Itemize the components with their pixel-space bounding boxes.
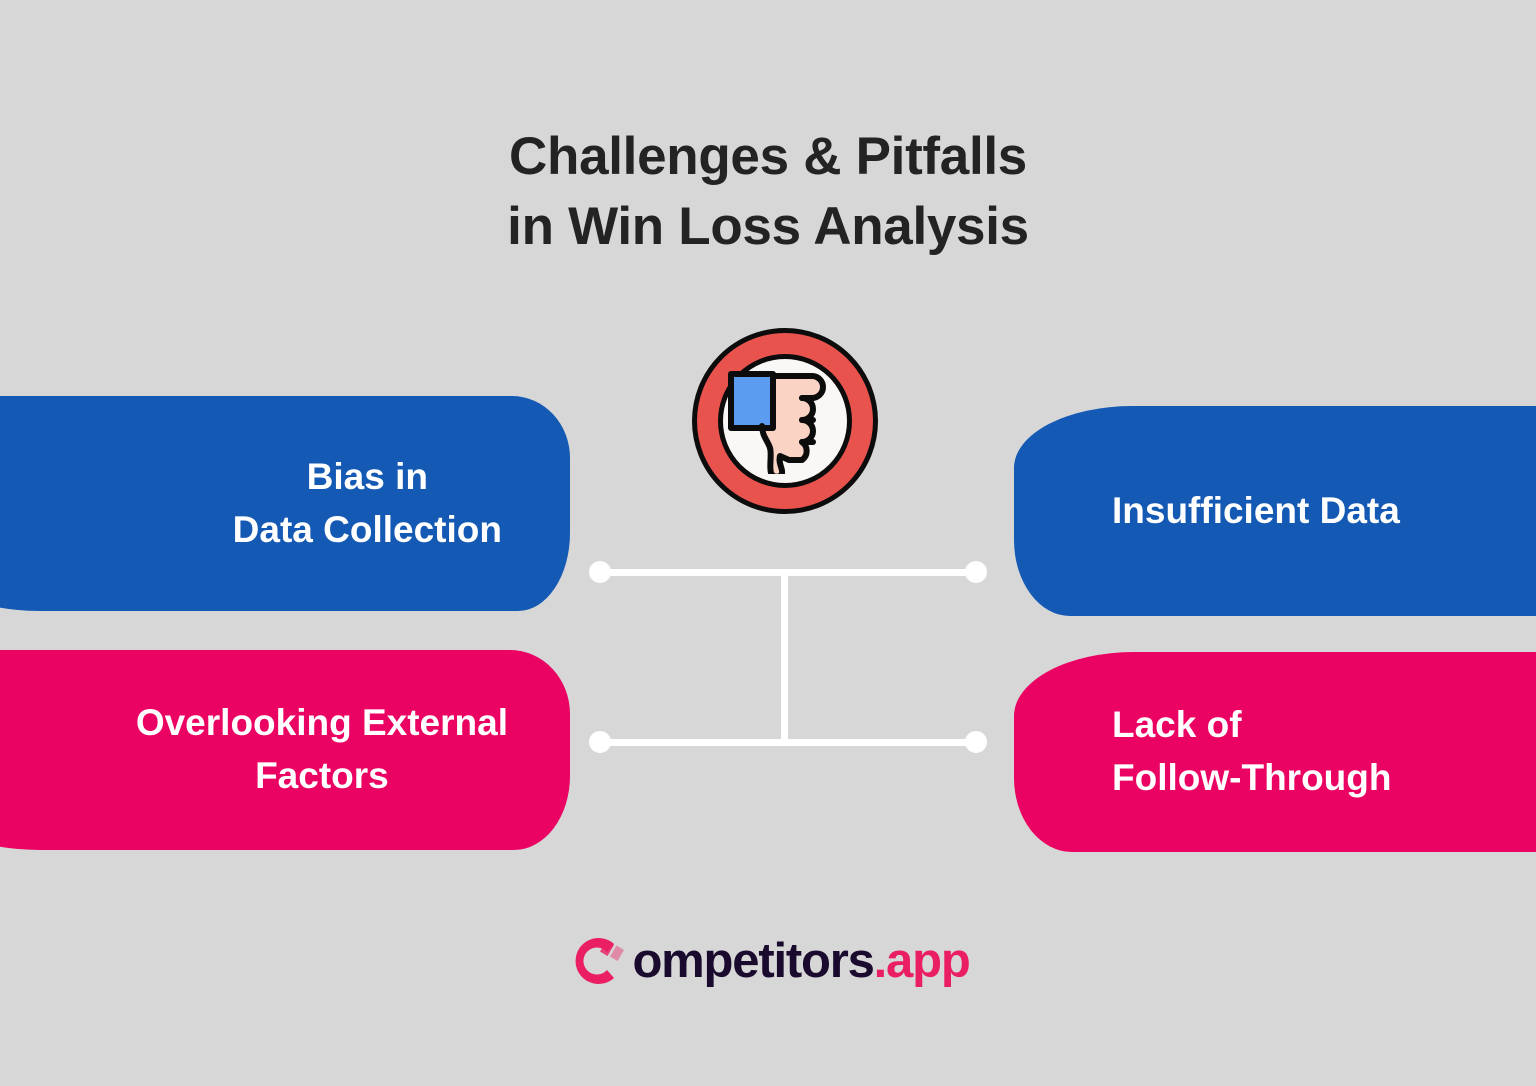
brand-wordmark: ompetitors.app	[632, 937, 969, 986]
connector-line-bottom	[600, 739, 986, 746]
competitors-c-mark-icon	[566, 930, 628, 992]
connector-line-top	[600, 569, 986, 576]
card-bias-in-data-collection[interactable]: Bias in Data Collection	[0, 396, 570, 611]
brand-wordmark-dark: ompetitors	[632, 934, 873, 988]
brand-logo: ompetitors.app	[0, 930, 1536, 992]
infographic-canvas: Challenges & Pitfalls in Win Loss Analys…	[0, 0, 1536, 1086]
connector-dot-bottom-right	[965, 731, 987, 753]
connector-dot-bottom-left	[589, 731, 611, 753]
card-overlooking-external-factors[interactable]: Overlooking External Factors	[0, 650, 570, 850]
connector-dot-top-right	[965, 561, 987, 583]
card-overlooking-text: Overlooking External Factors	[136, 697, 508, 802]
thumbs-down-icon	[728, 368, 842, 474]
card-lack-line-2: Follow-Through	[1112, 752, 1536, 805]
card-insufficient-line-1: Insufficient Data	[1112, 485, 1536, 538]
center-emblem	[692, 328, 878, 514]
card-lack-text: Lack of Follow-Through	[1112, 699, 1536, 804]
card-overlooking-line-2: Factors	[136, 750, 508, 803]
card-lack-line-1: Lack of	[1112, 699, 1536, 752]
connector-line-vertical	[781, 572, 788, 742]
card-insufficient-text: Insufficient Data	[1112, 485, 1536, 538]
card-bias-line-1: Bias in	[233, 451, 502, 504]
card-lack-of-follow-through[interactable]: Lack of Follow-Through	[1014, 652, 1536, 852]
card-bias-line-2: Data Collection	[233, 504, 502, 557]
card-overlooking-line-1: Overlooking External	[136, 697, 508, 750]
page-title-line-2: in Win Loss Analysis	[0, 192, 1536, 262]
page-title: Challenges & Pitfalls in Win Loss Analys…	[0, 122, 1536, 263]
card-bias-text: Bias in Data Collection	[233, 451, 502, 556]
connector-dot-top-left	[589, 561, 611, 583]
brand-wordmark-pink: .app	[874, 934, 970, 988]
page-title-line-1: Challenges & Pitfalls	[0, 122, 1536, 192]
card-insufficient-data[interactable]: Insufficient Data	[1014, 406, 1536, 616]
